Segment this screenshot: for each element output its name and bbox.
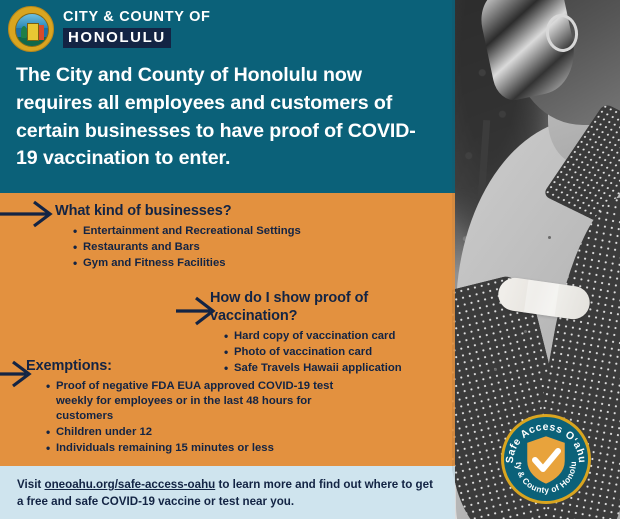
section-businesses-heading: What kind of businesses? [55,203,395,221]
badge-svg: Safe Access Oʻahu City & County of Honol… [500,413,592,505]
list-item: Individuals remaining 15 minutes or less [46,441,356,456]
list-item: Entertainment and Recreational Settings [73,224,395,239]
photo-skin-mark [494,368,497,371]
header-line-2: HONOLULU [63,28,171,48]
list-item: Hard copy of vaccination card [224,329,445,344]
photo-skin-mark [524,330,527,333]
section-proof-heading: How do I show proof of vaccination? [210,290,445,326]
list-item: Gym and Fitness Facilities [73,256,395,271]
content-column: CITY & COUNTY OF HONOLULU The City and C… [0,0,452,519]
footer-prefix: Visit [17,478,45,491]
section-exemptions: Exemptions: Proof of negative FDA EUA ap… [26,358,356,458]
seal-inner [15,13,49,47]
list-item: Restaurants and Bars [73,240,395,255]
safe-access-oahu-badge: Safe Access Oʻahu City & County of Honol… [500,413,592,505]
footer-text: Visit oneoahu.org/safe-access-oahu to le… [17,476,442,510]
vaccination-photo: Safe Access Oʻahu City & County of Honol… [452,0,620,519]
arrow-1-icon [0,200,58,228]
section-businesses-list: Entertainment and Recreational Settings … [55,224,395,271]
photo-left-edge-stripe [452,0,455,519]
section-businesses: What kind of businesses? Entertainment a… [55,203,395,272]
poster-header: CITY & COUNTY OF HONOLULU [8,6,211,52]
seal-crest [27,23,39,41]
header-line-1: CITY & COUNTY OF [63,10,211,25]
page-title: The City and County of Honolulu now requ… [16,62,436,173]
oneoahu-link[interactable]: oneoahu.org/safe-access-oahu [45,478,216,491]
shield-check-icon [526,435,566,485]
city-seal-icon [8,6,54,52]
section-exemptions-heading: Exemptions: [26,358,356,376]
list-item: Children under 12 [46,425,356,440]
header-text: CITY & COUNTY OF HONOLULU [63,10,211,48]
photo-skin-mark [548,236,551,239]
safe-access-oahu-poster: CITY & COUNTY OF HONOLULU The City and C… [0,0,620,519]
section-exemptions-list: Proof of negative FDA EUA approved COVID… [26,379,356,457]
list-item: Proof of negative FDA EUA approved COVID… [46,379,356,424]
